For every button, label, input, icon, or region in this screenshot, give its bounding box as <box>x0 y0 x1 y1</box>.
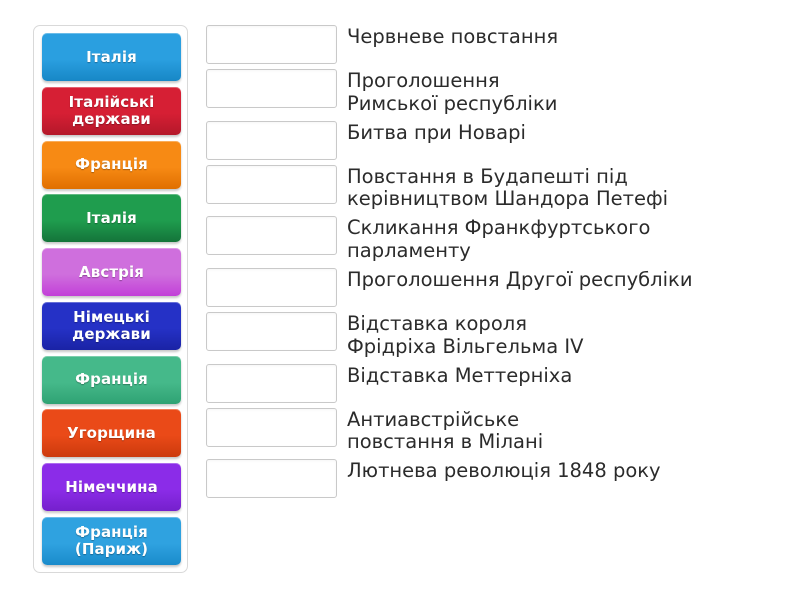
drop-target-box[interactable] <box>206 216 337 255</box>
answer-row: Проголошення Римської республіки <box>206 69 781 116</box>
prompt-text: Скликання Франкфуртського парламенту <box>347 216 781 263</box>
draggable-tiles-panel: ІталіяІталійські державиФранціяІталіяАвс… <box>33 25 188 573</box>
match-up-board: ІталіяІталійські державиФранціяІталіяАвс… <box>0 0 800 600</box>
tile-label: Австрія <box>79 264 144 281</box>
drop-target-box[interactable] <box>206 268 337 307</box>
answer-row: Відставка Меттерніха <box>206 364 781 403</box>
tile-label: Німеччина <box>65 479 158 496</box>
tile-label: Італія <box>86 210 137 227</box>
answer-row: Лютнева революція 1848 року <box>206 459 781 498</box>
tile-label: Італійські держави <box>69 94 155 128</box>
answer-row: Червневе повстання <box>206 25 781 64</box>
drop-target-box[interactable] <box>206 364 337 403</box>
answer-row: Повстання в Будапешті під керівництвом Ш… <box>206 165 781 212</box>
prompt-text: Проголошення Другої республіки <box>347 268 781 292</box>
prompt-text: Червневе повстання <box>347 25 781 49</box>
tile-label: Франція <box>75 371 148 388</box>
answer-row: Проголошення Другої республіки <box>206 268 781 307</box>
drop-target-box[interactable] <box>206 459 337 498</box>
drop-target-box[interactable] <box>206 25 337 64</box>
prompt-text: Антиавстрійське повстання в Мілані <box>347 408 781 455</box>
prompt-text: Повстання в Будапешті під керівництвом Ш… <box>347 165 781 212</box>
draggable-tile[interactable]: Італія <box>42 194 181 242</box>
prompt-text: Проголошення Римської республіки <box>347 69 781 116</box>
answer-row: Антиавстрійське повстання в Мілані <box>206 408 781 455</box>
answer-rows-list: Червневе повстанняПроголошення Римської … <box>206 25 781 503</box>
prompt-text: Відставка короля Фрідріха Вільгельма IV <box>347 312 781 359</box>
draggable-tile[interactable]: Німеччина <box>42 463 181 511</box>
draggable-tile[interactable]: Італія <box>42 33 181 81</box>
drop-target-box[interactable] <box>206 165 337 204</box>
draggable-tile[interactable]: Італійські держави <box>42 87 181 135</box>
tile-label: Італія <box>86 49 137 66</box>
drop-target-box[interactable] <box>206 121 337 160</box>
answer-row: Скликання Франкфуртського парламенту <box>206 216 781 263</box>
draggable-tile[interactable]: Німецькі держави <box>42 302 181 350</box>
drop-target-box[interactable] <box>206 69 337 108</box>
draggable-tile[interactable]: Франція <box>42 141 181 189</box>
answer-row: Битва при Новарі <box>206 121 781 160</box>
draggable-tile[interactable]: Угорщина <box>42 409 181 457</box>
prompt-text: Лютнева революція 1848 року <box>347 459 781 483</box>
draggable-tile[interactable]: Австрія <box>42 248 181 296</box>
drop-target-box[interactable] <box>206 408 337 447</box>
prompt-text: Битва при Новарі <box>347 121 781 145</box>
tile-label: Угорщина <box>67 425 156 442</box>
draggable-tile[interactable]: Франція <box>42 356 181 404</box>
drop-target-box[interactable] <box>206 312 337 351</box>
draggable-tile[interactable]: Франція (Париж) <box>42 517 181 565</box>
tile-label: Франція <box>75 156 148 173</box>
tile-label: Німецькі держави <box>72 309 151 343</box>
answer-row: Відставка короля Фрідріха Вільгельма IV <box>206 312 781 359</box>
tile-label: Франція (Париж) <box>75 524 148 558</box>
prompt-text: Відставка Меттерніха <box>347 364 781 388</box>
